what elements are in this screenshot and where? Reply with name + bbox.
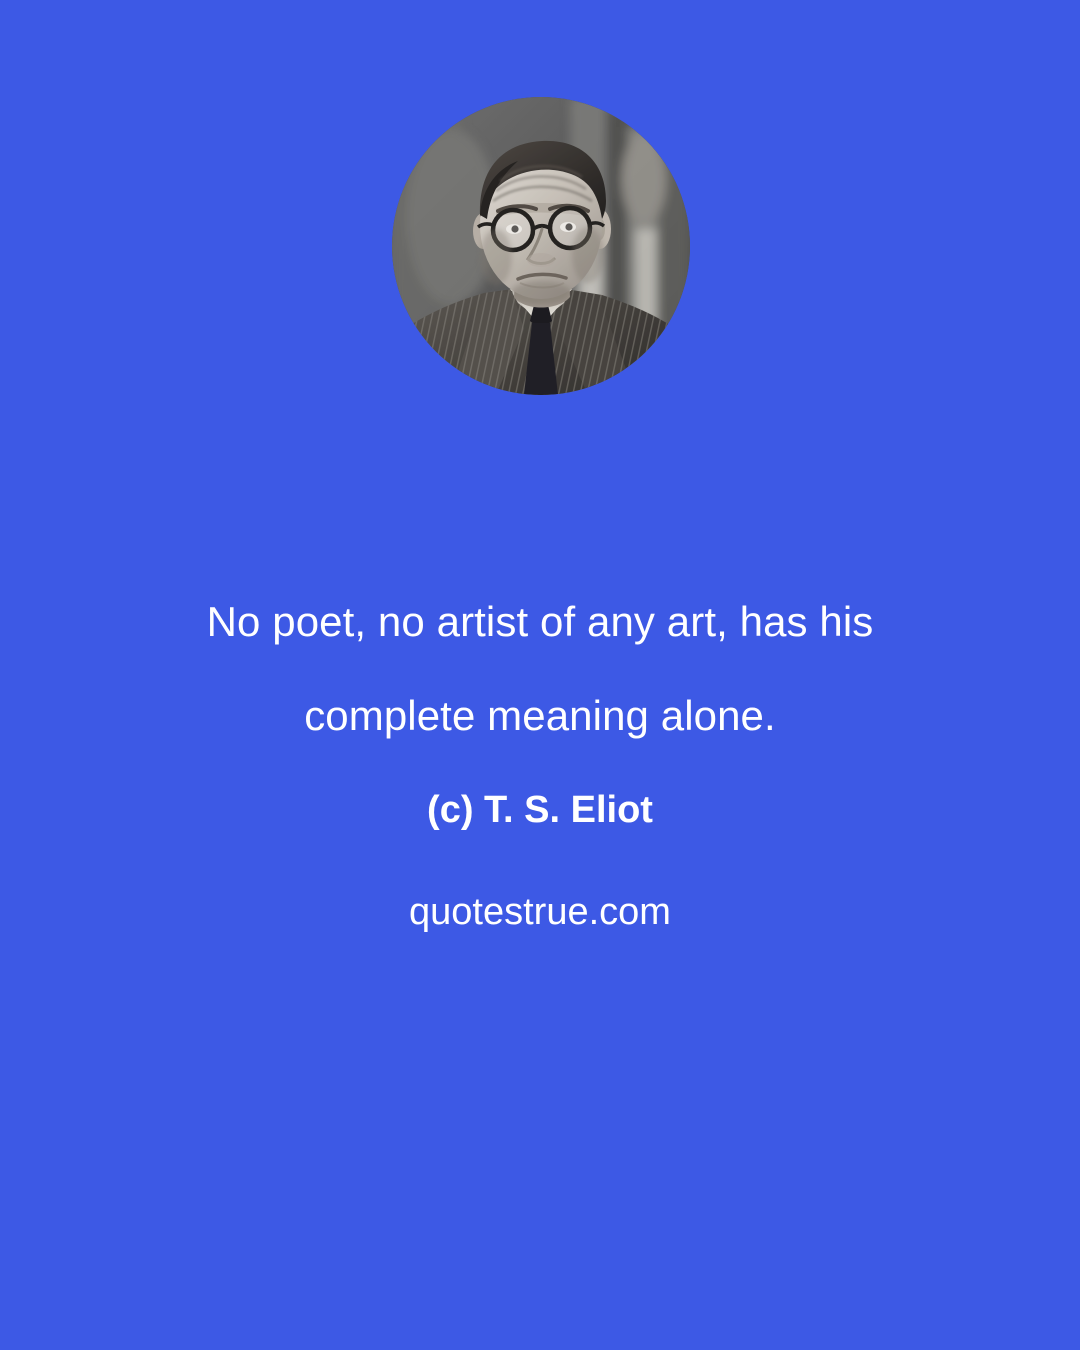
portrait-photo-icon <box>392 97 690 395</box>
quote-text-block: No poet, no artist of any art, has his c… <box>0 575 1080 937</box>
quote-text: No poet, no artist of any art, has his c… <box>145 575 935 763</box>
source-website: quotestrue.com <box>90 835 990 937</box>
author-portrait <box>392 97 690 395</box>
quote-card: No poet, no artist of any art, has his c… <box>0 0 1080 1350</box>
quote-attribution: (c) T. S. Eliot <box>90 763 990 835</box>
